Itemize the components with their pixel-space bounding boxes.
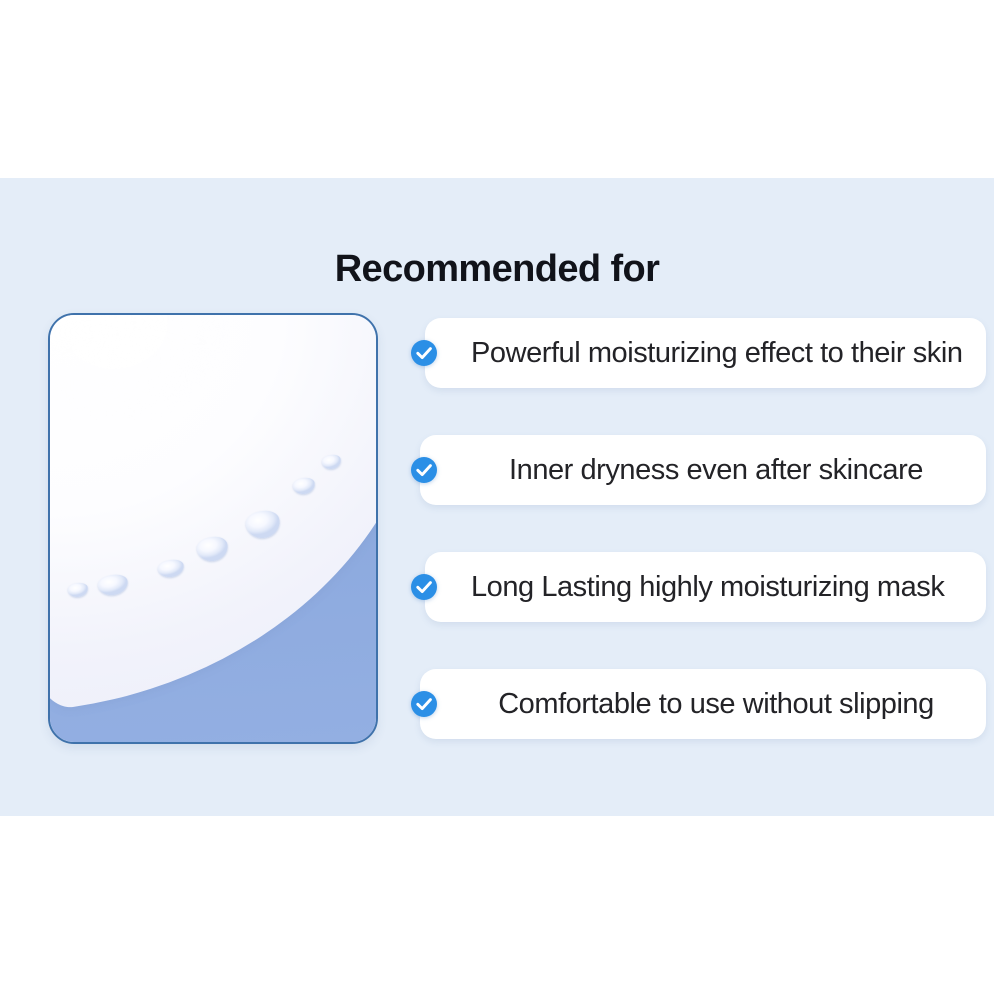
benefit-label: Comfortable to use without slipping bbox=[498, 690, 934, 719]
check-circle-icon bbox=[410, 690, 438, 718]
page-title: Recommended for bbox=[0, 249, 994, 291]
benefit-item-2: Inner dryness even after skincare bbox=[410, 435, 986, 505]
benefit-label: Long Lasting highly moisturizing mask bbox=[471, 573, 944, 602]
cream-highlight bbox=[50, 315, 292, 472]
recommended-section-panel: Recommended for Powerful moisturizing ef bbox=[0, 178, 994, 816]
check-circle-icon bbox=[410, 573, 438, 601]
benefit-item-1: Powerful moisturizing effect to their sk… bbox=[410, 318, 986, 388]
benefit-card: Comfortable to use without slipping bbox=[420, 669, 986, 739]
benefit-label: Powerful moisturizing effect to their sk… bbox=[471, 339, 963, 368]
product-texture-image bbox=[50, 315, 376, 742]
benefit-card: Inner dryness even after skincare bbox=[420, 435, 986, 505]
cream-mass-shape bbox=[50, 315, 376, 712]
benefit-label: Inner dryness even after skincare bbox=[509, 456, 923, 485]
product-image-card bbox=[48, 313, 378, 744]
benefit-card: Powerful moisturizing effect to their sk… bbox=[425, 318, 986, 388]
check-circle-icon bbox=[410, 339, 438, 367]
benefit-list: Powerful moisturizing effect to their sk… bbox=[410, 318, 986, 739]
benefit-item-3: Long Lasting highly moisturizing mask bbox=[410, 552, 986, 622]
check-circle-icon bbox=[410, 456, 438, 484]
page-root: Recommended for Powerful moisturizing ef bbox=[0, 0, 994, 994]
benefit-card: Long Lasting highly moisturizing mask bbox=[425, 552, 986, 622]
benefit-item-4: Comfortable to use without slipping bbox=[410, 669, 986, 739]
